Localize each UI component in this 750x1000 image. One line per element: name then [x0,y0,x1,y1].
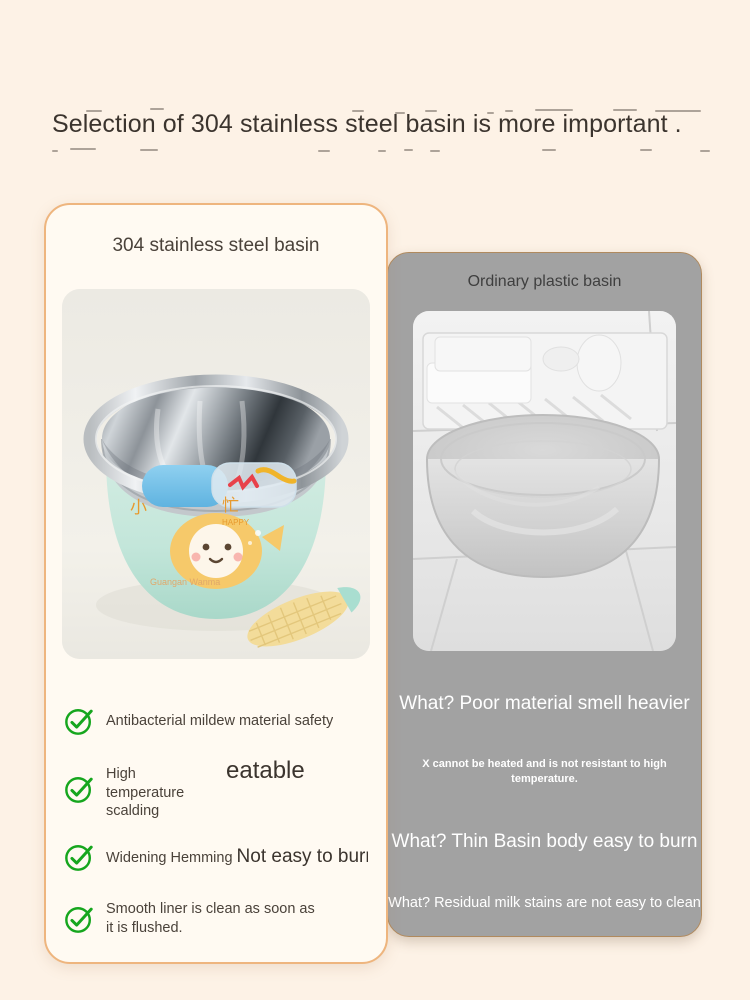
ghost-artifact [430,150,440,152]
benefit-label: Widening Hemming [106,849,233,868]
plastic-card-title: Ordinary plastic basin [388,273,701,291]
drawback-item: What? Poor material smell heavier [388,693,701,715]
check-circle-icon [64,904,94,934]
benefit-list: Antibacterial mildew material safety Hig… [64,695,368,955]
headline-region: Selection of 304 stainless steel basin i… [0,96,750,160]
drawback-list: What? Poor material smell heavier X cann… [388,685,701,911]
benefit-item: Widening Hemming Not easy to burn [64,831,368,883]
benefit-text-group: Smooth liner is clean as soon as it is f… [106,900,316,937]
ghost-artifact [70,148,96,150]
steel-basin-photo: 小 忙 HAPPY Guangan Wanma [62,289,370,659]
drawback-item: What? Residual milk stains are not easy … [388,895,701,911]
check-circle-icon [64,842,94,872]
benefit-text-group: High temperature scalding eatable [106,757,305,821]
steel-card-title: 304 stainless steel basin [46,235,386,257]
drawback-item: What? Thin Basin body easy to burn [388,831,701,853]
check-circle-icon [64,706,94,736]
ghost-artifact [140,149,158,151]
ghost-artifact [542,149,556,151]
benefit-label: Antibacterial mildew material safety [106,712,333,731]
comparison-card-plastic: Ordinary plastic basin [387,252,702,937]
plastic-basin-image [413,311,676,651]
benefit-item: Antibacterial mildew material safety [64,695,368,747]
svg-text:小: 小 [130,498,147,517]
ghost-artifact [404,149,413,151]
steel-basin-image: 小 忙 HAPPY Guangan Wanma [62,289,370,659]
benefit-text-group: Antibacterial mildew material safety [106,712,333,731]
ghost-artifact [700,150,710,152]
ghost-artifact [640,149,652,151]
svg-text:HAPPY: HAPPY [222,518,250,527]
benefit-emphasis: Not easy to burn [237,846,368,868]
benefit-label: Smooth liner is clean as soon as it is f… [106,900,316,937]
benefit-emphasis: eatable [226,757,305,785]
benefit-item: Smooth liner is clean as soon as it is f… [64,893,368,945]
plastic-basin-photo [413,311,676,651]
svg-text:Guangan Wanma: Guangan Wanma [150,577,220,587]
page-title: Selection of 304 stainless steel basin i… [52,96,682,152]
ghost-artifact [318,150,330,152]
benefit-item: High temperature scalding eatable [64,757,368,821]
benefit-text-group: Widening Hemming Not easy to burn [106,846,368,868]
svg-text:忙: 忙 [222,496,239,515]
benefit-label: High temperature scalding [106,765,218,821]
ghost-artifact [378,150,386,152]
ghost-artifact [52,150,58,152]
check-circle-icon [64,774,94,804]
drawback-note: X cannot be heated and is not resistant … [388,757,701,787]
comparison-card-steel: 304 stainless steel basin [44,203,388,964]
